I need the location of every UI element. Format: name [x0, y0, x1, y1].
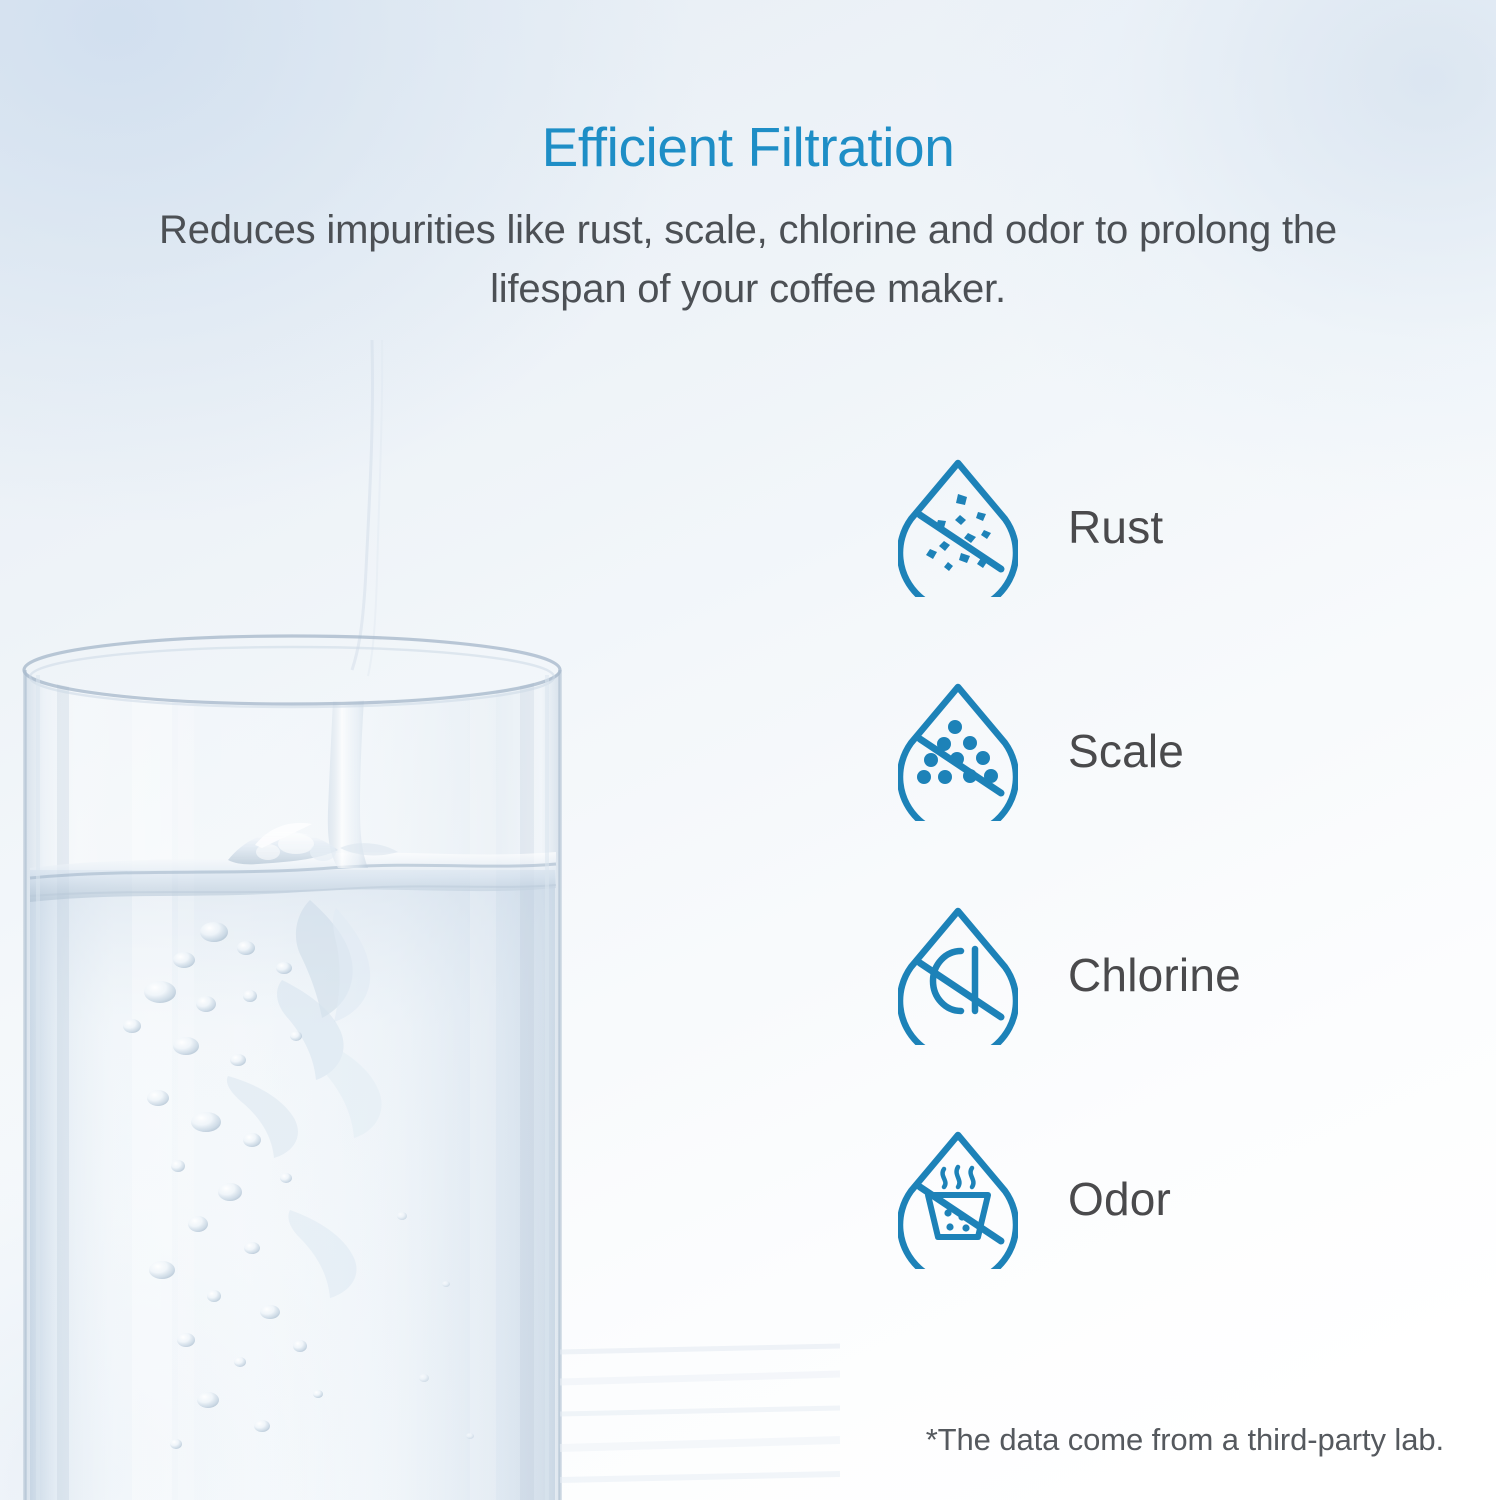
- pour-stream: [352, 340, 382, 676]
- feature-item-odor: Odor: [890, 1124, 1410, 1274]
- glass-rim: [24, 636, 560, 707]
- product-feature-panel: Efficient Filtration Reduces impurities …: [0, 0, 1496, 1500]
- chlorine-droplet-icon: [890, 900, 1026, 1050]
- glass-walls: [25, 670, 560, 1500]
- odor-droplet-icon: [890, 1124, 1026, 1274]
- feature-item-scale: Scale: [890, 676, 1410, 826]
- water-surface: [30, 852, 556, 902]
- bubble-plume: [227, 900, 382, 1298]
- feature-label-rust: Rust: [1068, 500, 1163, 554]
- background-tint-bottom-left: [0, 1060, 520, 1500]
- table-reflection: [560, 1346, 840, 1480]
- feature-item-rust: Rust: [890, 452, 1410, 602]
- splash-crown: [228, 823, 398, 865]
- feature-item-chlorine: Chlorine: [890, 900, 1410, 1050]
- header-block: Efficient Filtration Reduces impurities …: [0, 118, 1496, 318]
- feature-label-chlorine: Chlorine: [1068, 948, 1241, 1002]
- feature-label-odor: Odor: [1068, 1172, 1171, 1226]
- water-glass-photo: [0, 340, 840, 1500]
- scale-droplet-icon: [890, 676, 1026, 826]
- rust-droplet-icon: [890, 452, 1026, 602]
- filtration-feature-list: Rust: [890, 452, 1410, 1274]
- page-title: Efficient Filtration: [0, 118, 1496, 177]
- page-subtitle: Reduces impurities like rust, scale, chl…: [138, 201, 1358, 318]
- bubbles: [123, 922, 474, 1449]
- footnote-text: *The data come from a third-party lab.: [926, 1422, 1444, 1458]
- feature-label-scale: Scale: [1068, 724, 1184, 778]
